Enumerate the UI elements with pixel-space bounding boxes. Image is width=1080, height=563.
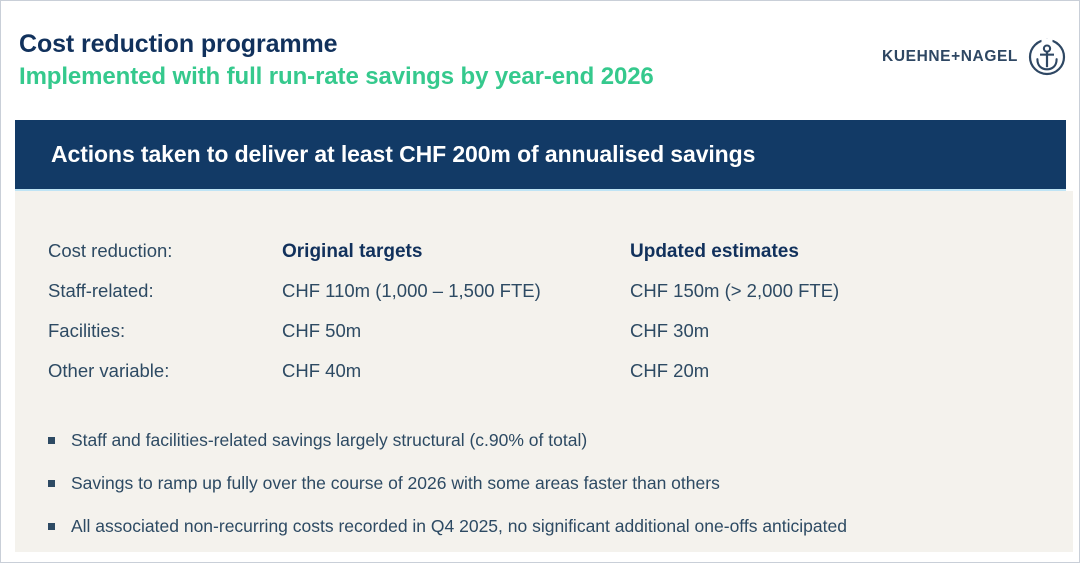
table-header-label: Cost reduction: <box>48 239 282 263</box>
bullet-list: Staff and facilities-related savings lar… <box>48 429 1058 558</box>
row-original-other-variable: CHF 40m <box>282 359 630 383</box>
list-item: All associated non-recurring costs recor… <box>48 515 1058 537</box>
page-subtitle: Implemented with full run-rate savings b… <box>19 62 654 92</box>
list-item: Savings to ramp up fully over the course… <box>48 472 1058 494</box>
row-original-facilities: CHF 50m <box>282 319 630 343</box>
row-updated-facilities: CHF 30m <box>630 319 1048 343</box>
table-header-row: Cost reduction: Original targets Updated… <box>48 239 1048 279</box>
row-updated-other-variable: CHF 20m <box>630 359 1048 383</box>
row-label-other-variable: Other variable: <box>48 359 282 383</box>
row-label-facilities: Facilities: <box>48 319 282 343</box>
row-updated-staff-related: CHF 150m (> 2,000 FTE) <box>630 279 1048 303</box>
row-label-staff-related: Staff-related: <box>48 279 282 303</box>
company-logo: KUEHNE+NAGEL <box>882 37 1067 77</box>
table-row: Other variable: CHF 40m CHF 20m <box>48 359 1048 399</box>
logo-wordmark: KUEHNE+NAGEL <box>882 48 1018 66</box>
slide-root: Cost reduction programme Implemented wit… <box>0 0 1080 563</box>
bullet-text-ramp-up: Savings to ramp up fully over the course… <box>71 472 720 494</box>
square-bullet-icon <box>48 437 55 444</box>
banner-headline: Actions taken to deliver at least CHF 20… <box>51 141 755 168</box>
table-header-updated-estimates: Updated estimates <box>630 240 1048 264</box>
row-original-staff-related: CHF 110m (1,000 – 1,500 FTE) <box>282 279 630 303</box>
table-row: Facilities: CHF 50m CHF 30m <box>48 319 1048 359</box>
table-row: Staff-related: CHF 110m (1,000 – 1,500 F… <box>48 279 1048 319</box>
bullet-text-non-recurring-costs: All associated non-recurring costs recor… <box>71 515 847 537</box>
anchor-in-circle-icon <box>1027 37 1067 77</box>
table-header-original-targets: Original targets <box>282 240 630 264</box>
square-bullet-icon <box>48 523 55 530</box>
banner: Actions taken to deliver at least CHF 20… <box>15 120 1066 189</box>
square-bullet-icon <box>48 480 55 487</box>
title-block: Cost reduction programme Implemented wit… <box>19 29 654 92</box>
slide-header: Cost reduction programme Implemented wit… <box>1 1 1080 114</box>
list-item: Staff and facilities-related savings lar… <box>48 429 1058 451</box>
page-title: Cost reduction programme <box>19 29 654 59</box>
bullet-text-structural-savings: Staff and facilities-related savings lar… <box>71 429 587 451</box>
cost-reduction-table: Cost reduction: Original targets Updated… <box>48 239 1048 399</box>
body-panel: Cost reduction: Original targets Updated… <box>15 191 1073 552</box>
